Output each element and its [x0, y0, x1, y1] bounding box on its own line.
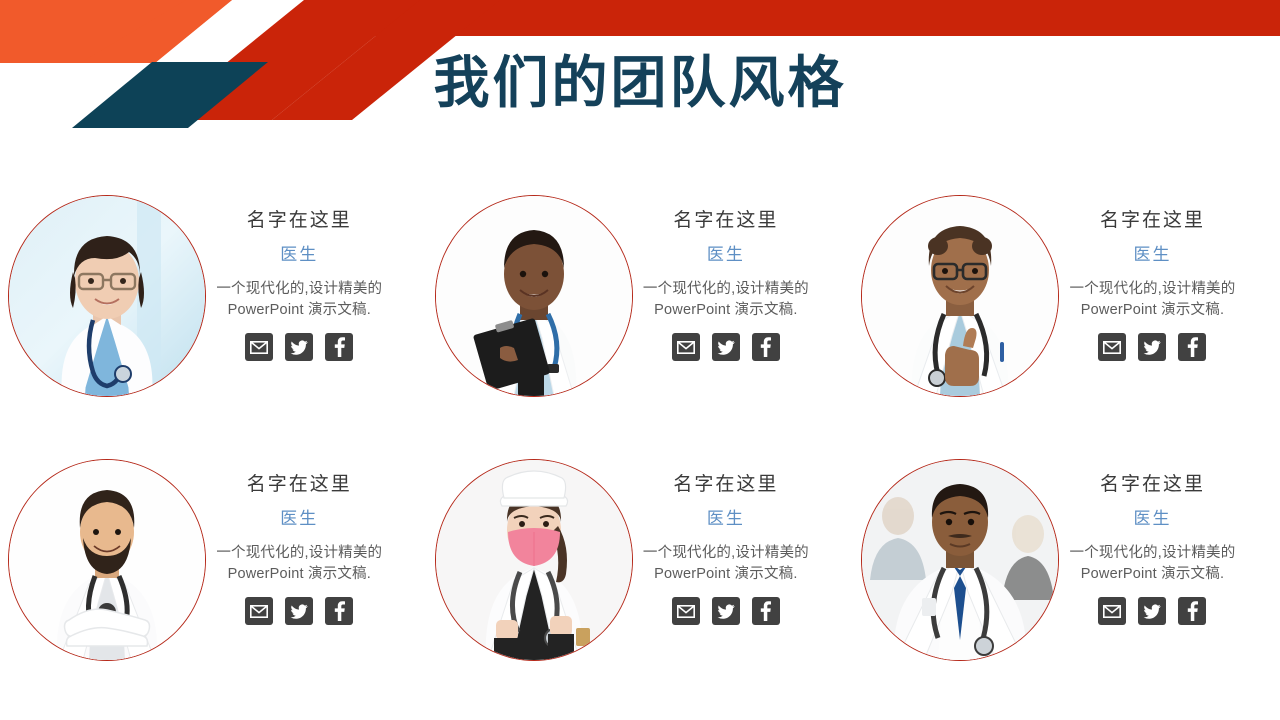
photo-female-doctor-thumbs-up-glasses — [862, 196, 1058, 396]
email-icon[interactable] — [672, 597, 700, 625]
person-description: 一个现代化的,设计精美的 PowerPoint 演示文稿. — [1059, 279, 1246, 321]
person-description: 一个现代化的,设计精美的 PowerPoint 演示文稿. — [1059, 543, 1246, 585]
avatar — [435, 459, 633, 661]
facebook-icon[interactable] — [1178, 597, 1206, 625]
card-body: 名字在这里 医生 一个现代化的,设计精美的 PowerPoint 演示文稿. — [633, 450, 854, 625]
card-body: 名字在这里 医生 一个现代化的,设计精美的 PowerPoint 演示文稿. — [206, 186, 427, 361]
person-description: 一个现代化的,设计精美的 PowerPoint 演示文稿. — [206, 279, 393, 321]
photo-male-doctor-blue-tie-blurred-team — [862, 460, 1058, 660]
avatar — [8, 459, 206, 661]
twitter-icon[interactable] — [285, 597, 313, 625]
facebook-icon[interactable] — [752, 597, 780, 625]
photo-female-doctor-pink-mask-cap — [436, 460, 632, 660]
email-icon[interactable] — [672, 333, 700, 361]
team-grid: 名字在这里 医生 一个现代化的,设计精美的 PowerPoint 演示文稿. — [0, 186, 1280, 714]
social-row — [206, 597, 393, 625]
facebook-icon[interactable] — [752, 333, 780, 361]
twitter-icon[interactable] — [712, 597, 740, 625]
email-icon[interactable] — [245, 597, 273, 625]
person-name: 名字在这里 — [206, 210, 393, 233]
avatar — [8, 195, 206, 397]
person-role: 医生 — [1059, 245, 1246, 265]
page-title: 我们的团队风格 — [0, 52, 1280, 114]
twitter-icon[interactable] — [285, 333, 313, 361]
team-card[interactable]: 名字在这里 医生 一个现代化的,设计精美的 PowerPoint 演示文稿. — [427, 186, 854, 450]
person-role: 医生 — [206, 509, 393, 529]
avatar-wrap — [427, 186, 633, 406]
photo-female-doctor-clipboard-white-background — [436, 196, 632, 396]
social-row — [206, 333, 393, 361]
card-body: 名字在这里 医生 一个现代化的,设计精美的 PowerPoint 演示文稿. — [1059, 450, 1280, 625]
team-card[interactable]: 名字在这里 医生 一个现代化的,设计精美的 PowerPoint 演示文稿. — [853, 450, 1280, 714]
facebook-icon[interactable] — [1178, 333, 1206, 361]
avatar-wrap — [853, 450, 1059, 670]
team-card[interactable]: 名字在这里 医生 一个现代化的,设计精美的 PowerPoint 演示文稿. — [0, 450, 427, 714]
person-description: 一个现代化的,设计精美的 PowerPoint 演示文稿. — [206, 543, 393, 585]
person-description: 一个现代化的,设计精美的 PowerPoint 演示文稿. — [633, 279, 820, 321]
person-name: 名字在这里 — [1059, 474, 1246, 497]
avatar-wrap — [427, 450, 633, 670]
team-row: 名字在这里 医生 一个现代化的,设计精美的 PowerPoint 演示文稿. — [0, 450, 1280, 714]
twitter-icon[interactable] — [712, 333, 740, 361]
facebook-icon[interactable] — [325, 597, 353, 625]
social-row — [633, 333, 820, 361]
person-name: 名字在这里 — [1059, 210, 1246, 233]
email-icon[interactable] — [1098, 597, 1126, 625]
team-row: 名字在这里 医生 一个现代化的,设计精美的 PowerPoint 演示文稿. — [0, 186, 1280, 450]
person-role: 医生 — [206, 245, 393, 265]
avatar-wrap — [853, 186, 1059, 406]
card-body: 名字在这里 医生 一个现代化的,设计精美的 PowerPoint 演示文稿. — [1059, 186, 1280, 361]
person-description: 一个现代化的,设计精美的 PowerPoint 演示文稿. — [633, 543, 820, 585]
social-row — [633, 597, 820, 625]
avatar-wrap — [0, 450, 206, 670]
team-card[interactable]: 名字在这里 医生 一个现代化的,设计精美的 PowerPoint 演示文稿. — [853, 186, 1280, 450]
person-name: 名字在这里 — [633, 474, 820, 497]
twitter-icon[interactable] — [1138, 597, 1166, 625]
email-icon[interactable] — [245, 333, 273, 361]
person-name: 名字在这里 — [633, 210, 820, 233]
twitter-icon[interactable] — [1138, 333, 1166, 361]
person-name: 名字在这里 — [206, 474, 393, 497]
avatar-wrap — [0, 186, 206, 406]
facebook-icon[interactable] — [325, 333, 353, 361]
avatar — [861, 459, 1059, 661]
photo-male-doctor-beard-arms-crossed — [9, 460, 205, 660]
team-card[interactable]: 名字在这里 医生 一个现代化的,设计精美的 PowerPoint 演示文稿. — [0, 186, 427, 450]
avatar — [435, 195, 633, 397]
person-role: 医生 — [1059, 509, 1246, 529]
person-role: 医生 — [633, 245, 820, 265]
card-body: 名字在这里 医生 一个现代化的,设计精美的 PowerPoint 演示文稿. — [206, 450, 427, 625]
red-band — [304, 0, 1280, 36]
card-body: 名字在这里 医生 一个现代化的,设计精美的 PowerPoint 演示文稿. — [633, 186, 854, 361]
email-icon[interactable] — [1098, 333, 1126, 361]
social-row — [1059, 333, 1246, 361]
avatar — [861, 195, 1059, 397]
person-role: 医生 — [633, 509, 820, 529]
team-card[interactable]: 名字在这里 医生 一个现代化的,设计精美的 PowerPoint 演示文稿. — [427, 450, 854, 714]
photo-female-doctor-glasses-blue-background — [9, 196, 205, 396]
social-row — [1059, 597, 1246, 625]
